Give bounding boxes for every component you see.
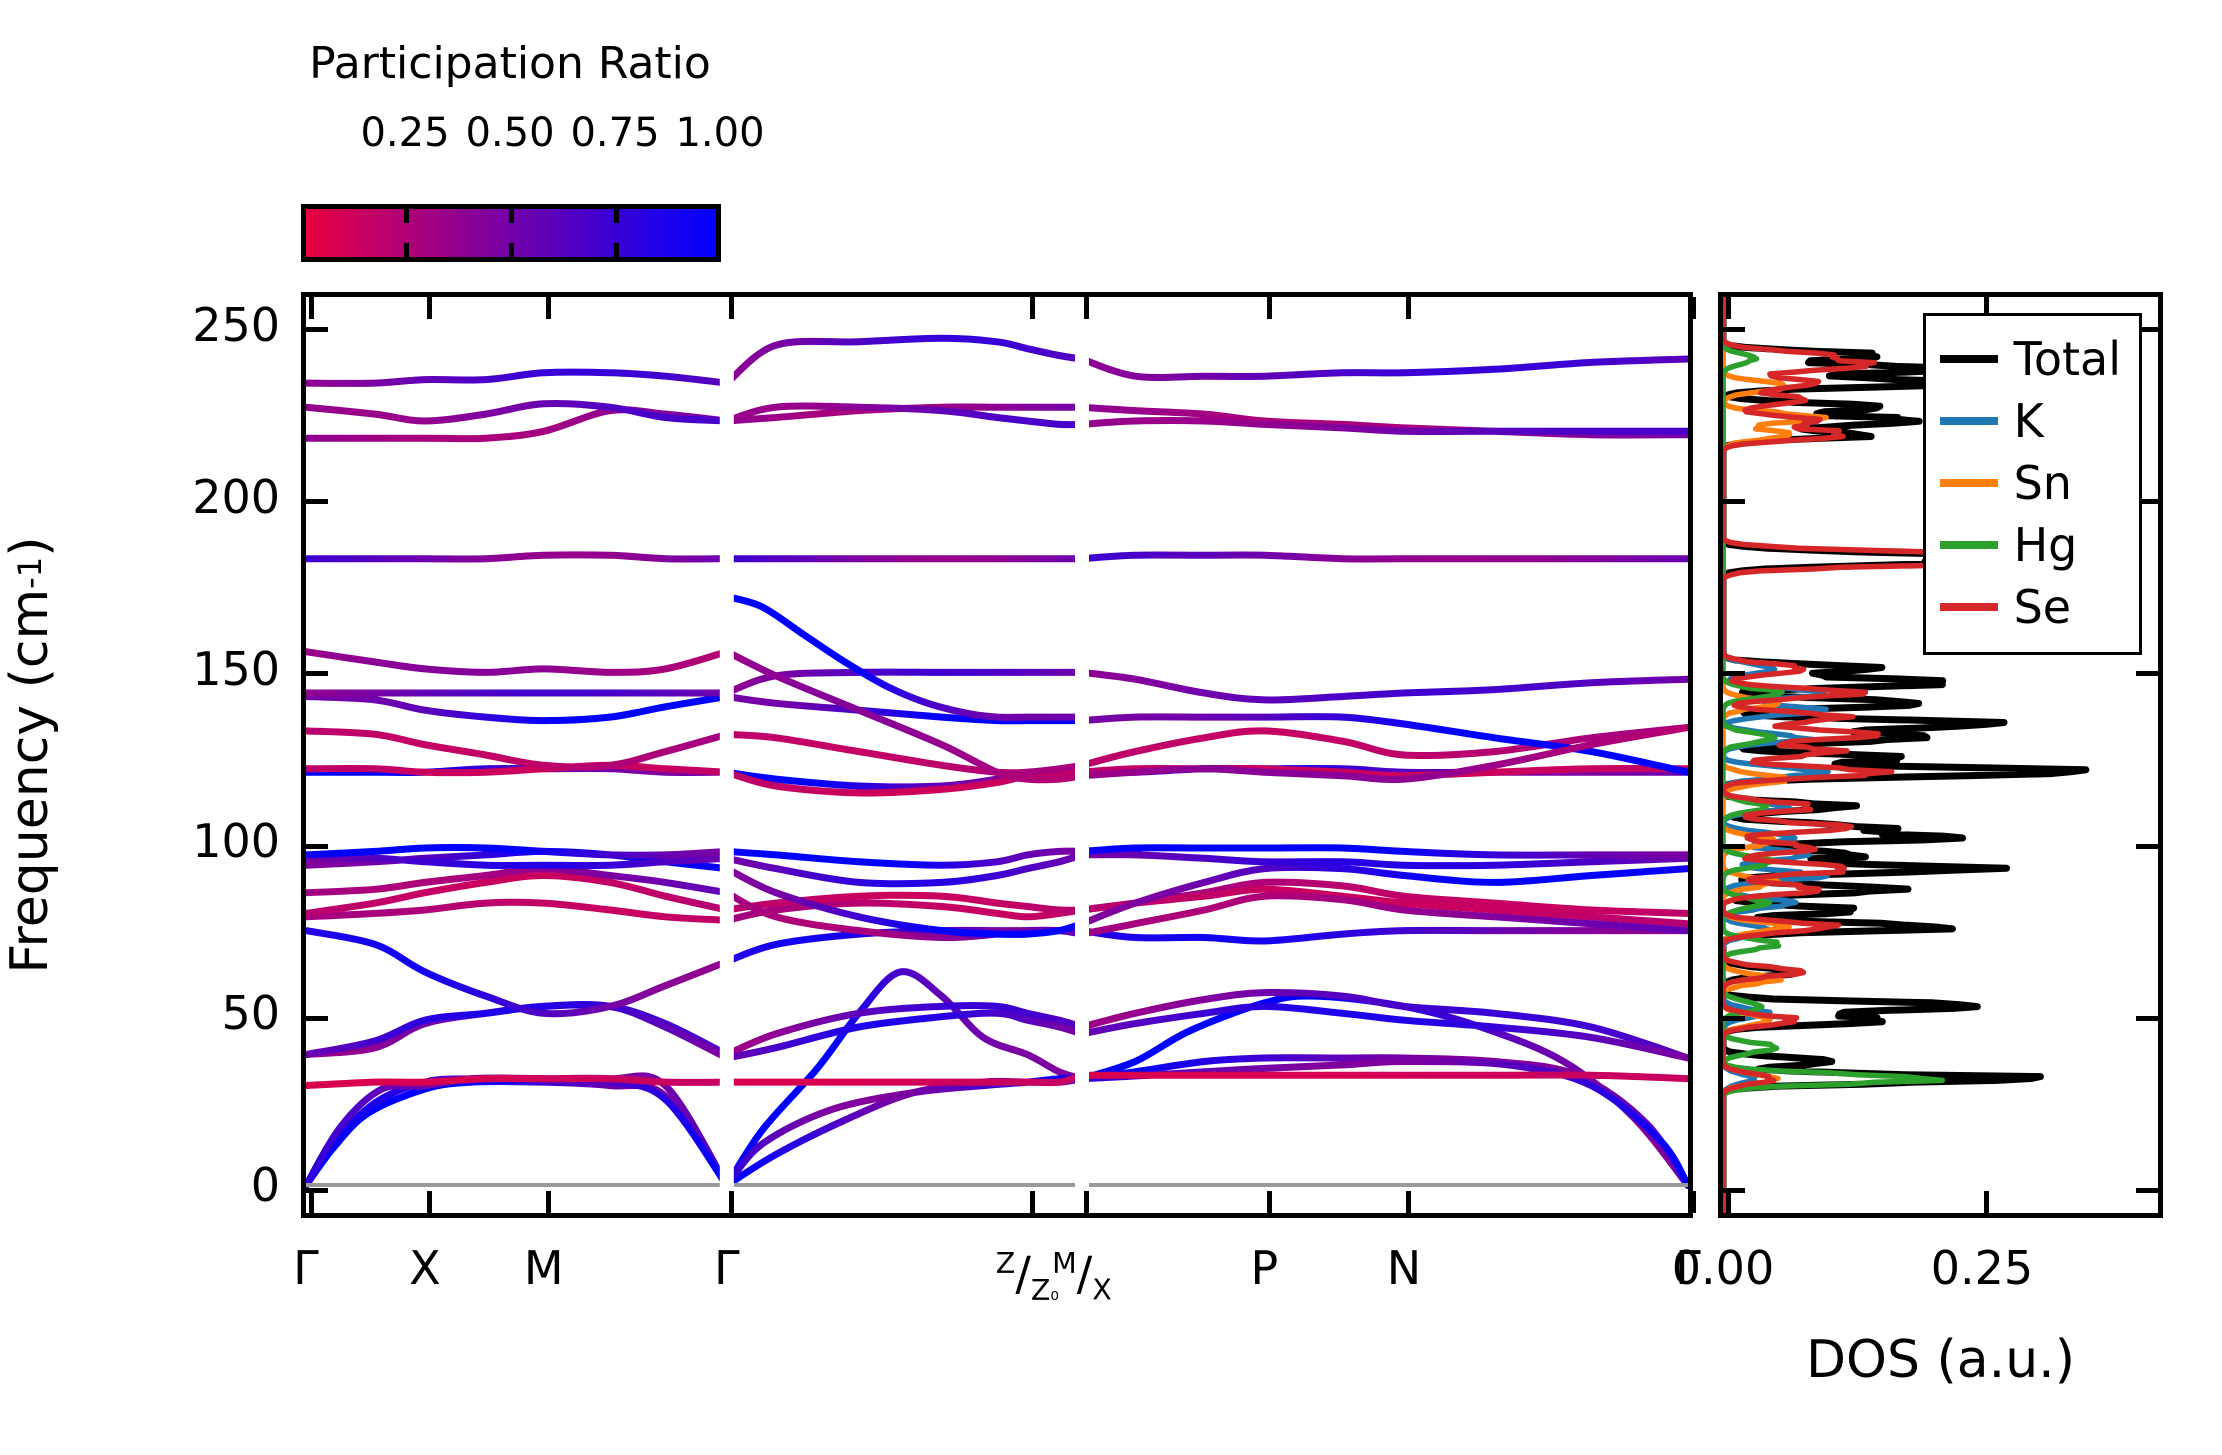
colorbar-tick-label: 0.75 — [570, 110, 659, 156]
band-x-tick-label: Γ — [293, 1244, 319, 1292]
band-segment-separators — [306, 297, 1688, 1213]
band-x-tick-label: X — [409, 1244, 441, 1292]
legend-label: Hg — [2014, 522, 2078, 568]
figure-canvas: Participation Ratio 0.250.500.751.00 Fre… — [0, 0, 2222, 1455]
band-x-tick-top — [1030, 297, 1035, 319]
band-y-tick-label: 100 — [70, 818, 280, 864]
band-structure-plot — [301, 292, 1693, 1218]
legend-item: Hg — [1940, 514, 2121, 576]
colorbar-tick-labels: 0.250.500.751.00 — [300, 110, 720, 160]
band-x-tick — [1691, 1191, 1696, 1213]
band-y-tick-label: 0 — [70, 1162, 280, 1208]
band-y-tick — [306, 499, 328, 504]
colorbar — [301, 204, 721, 262]
band-x-tick — [1030, 1191, 1035, 1213]
dos-y-tick-right — [2136, 1188, 2158, 1193]
band-x-tick-top — [1267, 297, 1272, 319]
band-x-tick-top — [1406, 297, 1411, 319]
band-segment-gap — [1075, 297, 1089, 1213]
band-y-axis-label: Frequency (cm-1) — [0, 292, 70, 1218]
legend-item: K — [1940, 390, 2121, 452]
dos-x-tick — [1726, 1191, 1731, 1213]
dos-y-tick-right — [2136, 1016, 2158, 1021]
legend-item: Sn — [1940, 452, 2121, 514]
band-y-tick — [306, 844, 328, 849]
colorbar-tick-mark — [614, 209, 619, 223]
colorbar-tick-mark — [404, 243, 409, 257]
dos-x-axis-label: DOS (a.u.) — [1718, 1330, 2163, 1390]
colorbar-tick-mark — [404, 209, 409, 223]
legend-color-swatch — [1940, 355, 1998, 363]
legend-item: Total — [1940, 328, 2121, 390]
band-x-tick-label: P — [1251, 1244, 1279, 1292]
band-x-tick-label: Γ — [714, 1244, 740, 1292]
band-y-tick-label: 200 — [70, 474, 280, 520]
band-x-tick-top — [1691, 297, 1696, 319]
legend-label: Sn — [2014, 460, 2072, 506]
band-x-tick-label: N — [1387, 1244, 1421, 1292]
colorbar-tick-label: 0.25 — [360, 110, 449, 156]
band-x-tick-top — [729, 297, 734, 319]
band-x-tick — [1406, 1191, 1411, 1213]
band-x-tick-label: M — [524, 1244, 564, 1292]
dos-x-tick-label: 0.00 — [1672, 1244, 1774, 1292]
colorbar-tick-mark — [509, 243, 514, 257]
dos-y-tick-right — [2136, 844, 2158, 849]
band-y-axis-label-exponent: -1 — [11, 557, 49, 589]
dos-x-tick — [1984, 1191, 1989, 1213]
band-x-tick — [427, 1191, 432, 1213]
band-x-tick-top — [1084, 297, 1089, 319]
band-x-tick — [309, 1191, 314, 1213]
dos-plot: TotalKSnHgSe — [1718, 292, 2163, 1218]
band-y-axis-label-text: Frequency (cm — [0, 589, 60, 974]
dos-y-tick — [1723, 671, 1745, 676]
band-x-tick — [1267, 1191, 1272, 1213]
dos-x-tick-top — [1726, 297, 1731, 319]
band-y-tick — [306, 1016, 328, 1021]
band-y-tick — [306, 327, 328, 332]
band-x-tick-top — [546, 297, 551, 319]
band-x-tick — [546, 1191, 551, 1213]
dos-y-tick-right — [2136, 671, 2158, 676]
band-plot-area — [306, 297, 1688, 1213]
legend-color-swatch — [1940, 417, 1998, 425]
legend-color-swatch — [1940, 603, 1998, 611]
colorbar-title: Participation Ratio — [300, 38, 720, 90]
legend-color-swatch — [1940, 541, 1998, 549]
band-y-tick-label: 150 — [70, 646, 280, 692]
dos-legend: TotalKSnHgSe — [1923, 313, 2142, 655]
colorbar-tick-mark — [509, 209, 514, 223]
colorbar-tick-mark — [614, 243, 619, 257]
band-y-axis-label-tail: ) — [0, 536, 60, 556]
band-x-tick-top — [309, 297, 314, 319]
dos-y-tick — [1723, 499, 1745, 504]
legend-item: Se — [1940, 576, 2121, 638]
band-segment-gap — [720, 297, 734, 1213]
band-x-tick — [729, 1191, 734, 1213]
band-y-tick-label: 250 — [70, 302, 280, 348]
dos-y-tick — [1723, 844, 1745, 849]
colorbar-tick-label: 0.50 — [465, 110, 554, 156]
legend-label: K — [2014, 398, 2044, 444]
legend-label: Total — [2014, 336, 2121, 382]
band-x-tick-top — [427, 297, 432, 319]
band-y-tick — [306, 671, 328, 676]
legend-color-swatch — [1940, 479, 1998, 487]
dos-x-tick-label: 0.25 — [1931, 1244, 2033, 1292]
band-y-tick-label: 50 — [70, 990, 280, 1036]
dos-y-tick — [1723, 1016, 1745, 1021]
dos-y-tick — [1723, 327, 1745, 332]
band-x-tick-label: M/X — [1052, 1240, 1112, 1315]
legend-label: Se — [2014, 584, 2072, 630]
band-x-tick — [1084, 1191, 1089, 1213]
colorbar-tick-label: 1.00 — [675, 110, 764, 156]
band-x-tick-label: Z/Z₀ — [996, 1240, 1059, 1318]
